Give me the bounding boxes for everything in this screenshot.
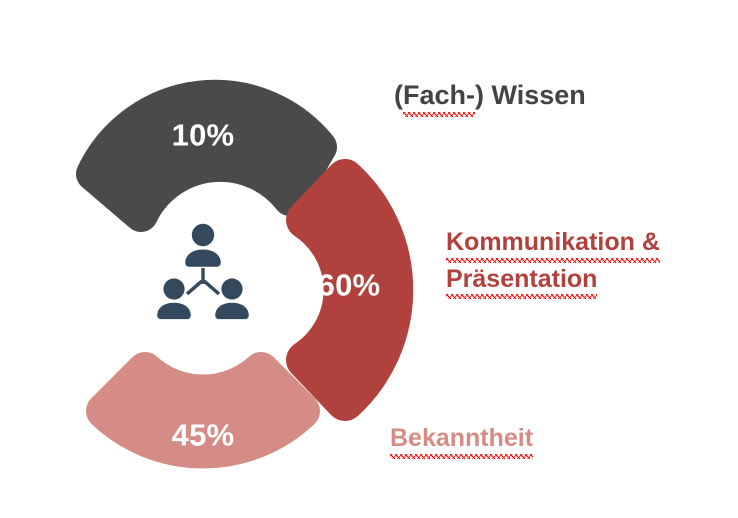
callout-wissen-line: (Fach-) Wissen bbox=[394, 80, 586, 112]
donut-segment-kommunikation[interactable]: 60% bbox=[305, 178, 394, 402]
callout-bekanntheit-text: Bekanntheit bbox=[390, 424, 533, 454]
callout-bekanntheit-line: Bekanntheit bbox=[390, 424, 533, 454]
donut-segment-wissen[interactable]: 10% bbox=[93, 97, 320, 215]
donut-infographic: 10% 60% 45% bbox=[0, 0, 738, 518]
callout-label-wissen: (Fach-) Wissen bbox=[394, 80, 586, 112]
team-org-chart-icon bbox=[153, 218, 253, 330]
callout-wissen-prefix: ( bbox=[394, 80, 403, 110]
callout-kommunikation-line2: Präsentation bbox=[446, 265, 597, 295]
donut-segment-bekanntheit-value: 45% bbox=[172, 418, 235, 453]
callout-label-kommunikation: Kommunikation & Präsentation bbox=[446, 228, 660, 294]
donut-segment-wissen-shape bbox=[93, 97, 320, 215]
callout-wissen-rest: ) Wissen bbox=[475, 80, 586, 110]
callout-wissen-misspelled: Fach- bbox=[403, 80, 475, 112]
donut-segment-wissen-value: 10% bbox=[172, 118, 235, 153]
donut-segment-kommunikation-value: 60% bbox=[318, 268, 381, 303]
callout-kommunikation-line2-text: Präsentation bbox=[446, 265, 597, 295]
callout-kommunikation-line1-text: Kommunikation & bbox=[446, 228, 660, 258]
donut-segment-bekanntheit[interactable]: 45% bbox=[104, 370, 302, 453]
callout-kommunikation-line1: Kommunikation & bbox=[446, 228, 660, 258]
callout-label-bekanntheit: Bekanntheit bbox=[390, 424, 533, 454]
